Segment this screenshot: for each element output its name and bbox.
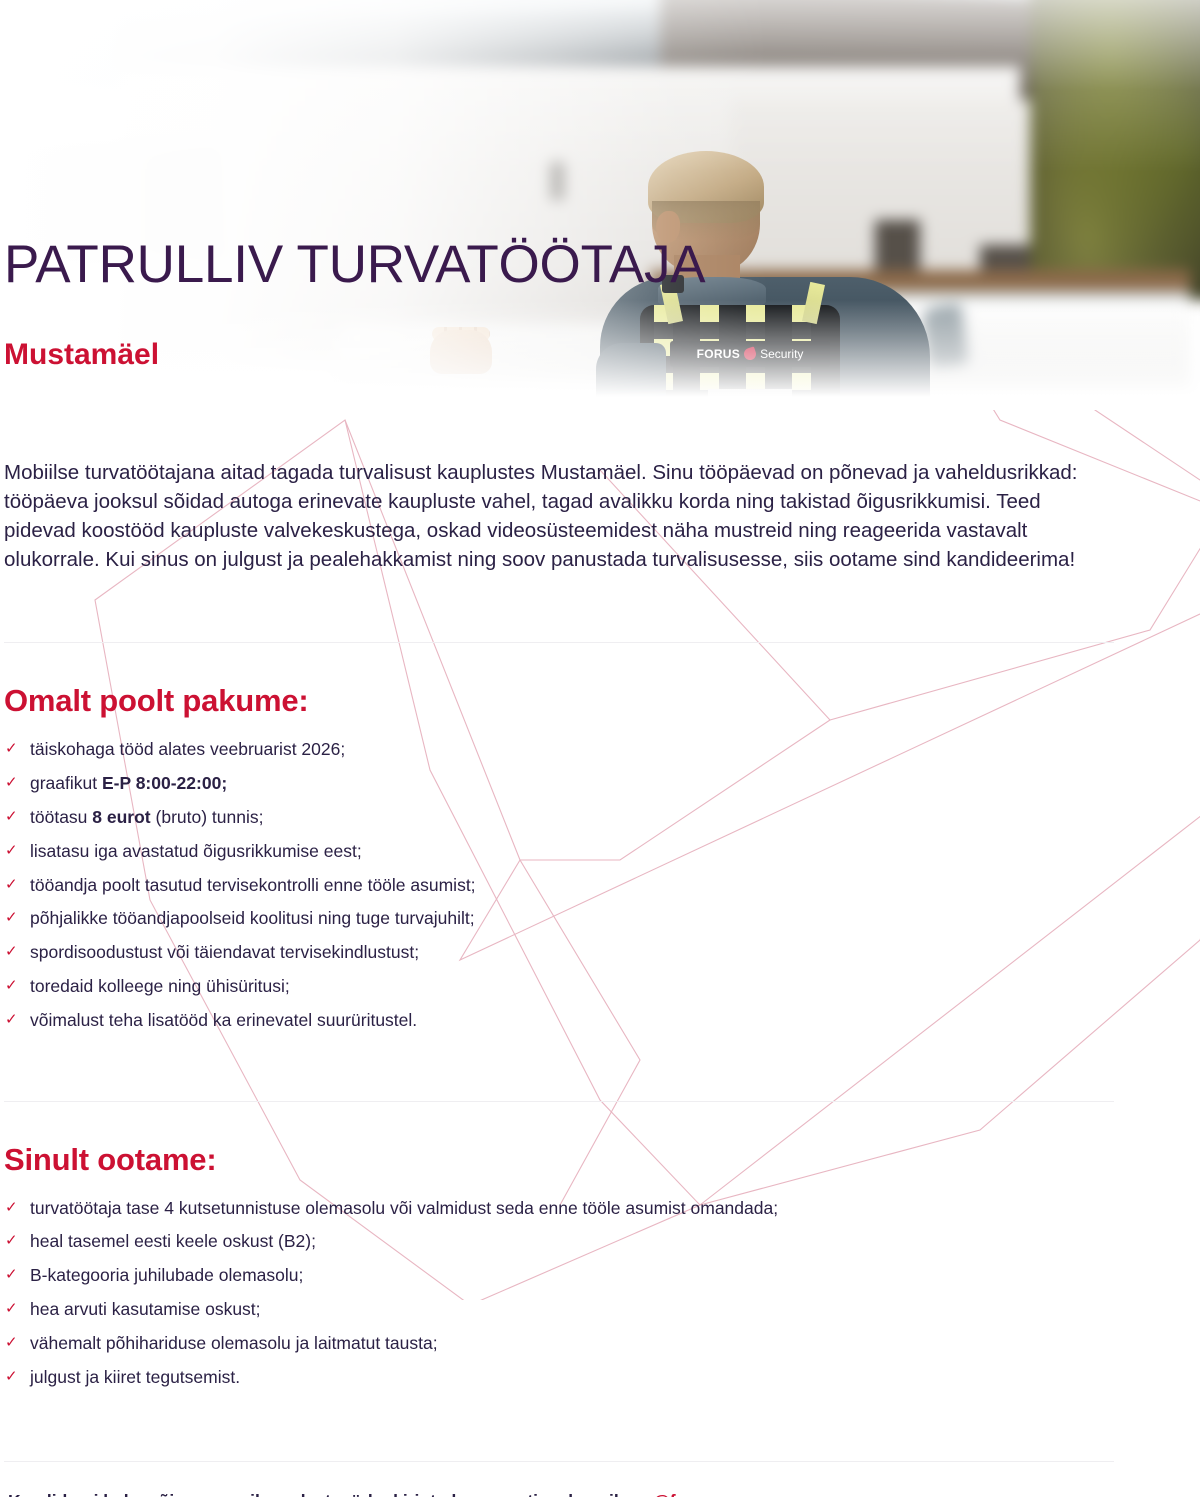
list-item: ✓turvatöötaja tase 4 kutsetunnistuse ole… [4, 1197, 1200, 1221]
list-item-text-end: (bruto) tunnis; [151, 807, 264, 827]
list-item-text: hea arvuti kasutamise oskust; [30, 1299, 261, 1319]
job-posting-page: FORUS Security PATRULLIV TURVATÖÖTAJA Mu… [0, 0, 1200, 1497]
list-item: ✓julgust ja kiiret tegutsemist. [4, 1366, 1200, 1390]
check-icon: ✓ [5, 907, 18, 928]
list-item: ✓graafikut E-P 8:00-22:00; [4, 772, 1200, 796]
list-item: ✓spordisoodustust või täiendavat tervise… [4, 941, 1200, 965]
list-item-text: turvatöötaja tase 4 kutsetunnistuse olem… [30, 1198, 778, 1218]
check-icon: ✓ [5, 1009, 18, 1030]
offer-list: ✓täiskohaga tööd alates veebruarist 2026… [4, 716, 1200, 1032]
list-item-text: põhjalikke tööandjapoolseid koolitusi ni… [30, 908, 475, 928]
list-item-emphasis: 8 eurot [92, 807, 150, 827]
check-icon: ✓ [5, 772, 18, 793]
check-icon: ✓ [5, 738, 18, 759]
check-icon: ✓ [5, 1366, 18, 1387]
list-item: ✓töötasu 8 eurot (bruto) tunnis; [4, 806, 1200, 830]
list-item-text: täiskohaga tööd alates veebruarist 2026; [30, 739, 345, 759]
list-item: ✓võimalust teha lisatööd ka erinevatel s… [4, 1009, 1200, 1033]
list-item-text: B-kategooria juhilubade olemasolu; [30, 1265, 303, 1285]
hero-photograph: FORUS Security [0, 0, 1200, 410]
expectations-heading: Sinult ootame: [4, 1144, 1200, 1175]
check-icon: ✓ [5, 1230, 18, 1251]
list-item: ✓toredaid kolleege ning ühisüritusi; [4, 975, 1200, 999]
check-icon: ✓ [5, 806, 18, 827]
check-icon: ✓ [5, 1264, 18, 1285]
list-item: ✓heal tasemel eesti keele oskust (B2); [4, 1230, 1200, 1254]
hero-banner: FORUS Security PATRULLIV TURVATÖÖTAJA Mu… [0, 0, 1200, 410]
expectations-section: Sinult ootame: ✓turvatöötaja tase 4 kuts… [4, 1102, 1200, 1390]
list-item: ✓täiskohaga tööd alates veebruarist 2026… [4, 738, 1200, 762]
main-content: Mobiilse turvatöötajana aitad tagada tur… [0, 410, 1200, 1497]
check-icon: ✓ [5, 1298, 18, 1319]
list-item: ✓vähemalt põhihariduse olemasolu ja lait… [4, 1332, 1200, 1356]
list-item-text: julgust ja kiiret tegutsemist. [30, 1367, 240, 1387]
check-icon: ✓ [5, 975, 18, 996]
list-item-text: vähemalt põhihariduse olemasolu ja laitm… [30, 1333, 438, 1353]
offer-section: Omalt poolt pakume: ✓täiskohaga tööd ala… [4, 643, 1200, 1032]
apply-line: Kandideeri kohe või anna meile endast mä… [8, 1490, 1200, 1497]
list-item-text: spordisoodustust või täiendavat tervisek… [30, 942, 419, 962]
apply-text-end: . [738, 1491, 743, 1497]
apply-text: Kandideeri kohe või anna meile endast mä… [8, 1491, 633, 1497]
photo-bottom-fade [0, 300, 1200, 410]
list-item-emphasis: E-P 8:00-22:00; [102, 773, 227, 793]
check-icon: ✓ [5, 874, 18, 895]
list-item: ✓B-kategooria juhilubade olemasolu; [4, 1264, 1200, 1288]
list-item-text: toredaid kolleege ning ühisüritusi; [30, 976, 290, 996]
offer-heading: Omalt poolt pakume: [4, 685, 1200, 716]
list-item: ✓tööandja poolt tasutud tervisekontrolli… [4, 874, 1200, 898]
list-item: ✓hea arvuti kasutamise oskust; [4, 1298, 1200, 1322]
list-item-text: heal tasemel eesti keele oskust (B2); [30, 1231, 316, 1251]
check-icon: ✓ [5, 1197, 18, 1218]
list-item: ✓põhjalikke tööandjapoolseid koolitusi n… [4, 907, 1200, 931]
list-item-text: tööandja poolt tasutud tervisekontrolli … [30, 875, 476, 895]
list-item-text: lisatasu iga avastatud õigusrikkumise ee… [30, 841, 362, 861]
check-icon: ✓ [5, 1332, 18, 1353]
list-item-text: võimalust teha lisatööd ka erinevatel su… [30, 1010, 417, 1030]
list-item-text: graafikut [30, 773, 102, 793]
list-item-text: töötasu [30, 807, 92, 827]
footer-contact: Kandideeri kohe või anna meile endast mä… [4, 1462, 1200, 1497]
expectations-list: ✓turvatöötaja tase 4 kutsetunnistuse ole… [4, 1175, 1200, 1390]
check-icon: ✓ [5, 840, 18, 861]
check-icon: ✓ [5, 941, 18, 962]
email-link[interactable]: cv@forus.ee [633, 1491, 738, 1497]
list-item: ✓lisatasu iga avastatud õigusrikkumise e… [4, 840, 1200, 864]
intro-paragraph: Mobiilse turvatöötajana aitad tagada tur… [4, 410, 1200, 574]
